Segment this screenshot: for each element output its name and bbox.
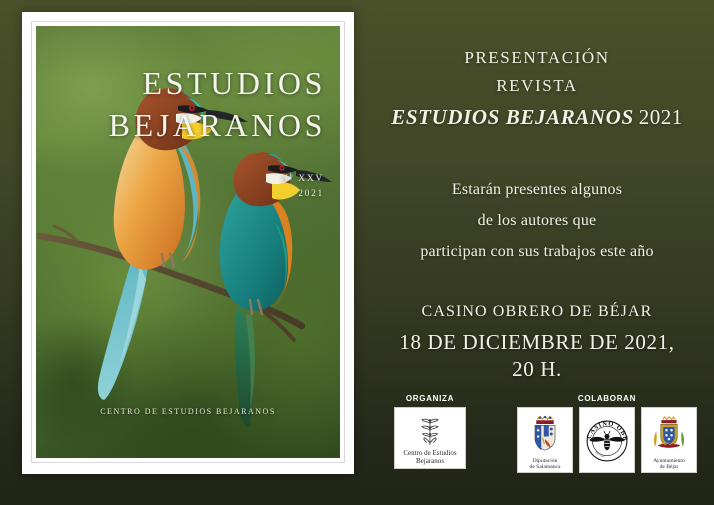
logo-caption-line2: de Béjar [653, 464, 685, 470]
thistle-plant-glyph [413, 414, 447, 448]
magazine-cover: ESTUDIOS BEJARANOS Nº XXV 2021 CENTRO DE… [22, 12, 354, 474]
salamanca-shield-glyph [530, 415, 560, 453]
revista-heading: REVISTA [360, 76, 714, 96]
logo-caption-line1: Diputación [530, 458, 561, 464]
venue-name: CASINO OBRERO DE BÉJAR [360, 303, 714, 321]
cover-photo: ESTUDIOS BEJARANOS Nº XXV 2021 CENTRO DE… [36, 26, 340, 458]
cover-publisher-label: CENTRO DE ESTUDIOS BEJARANOS [100, 407, 276, 416]
colaboran-label: COLABORAN [500, 394, 714, 403]
cover-title-line2: BEJARANOS [36, 104, 326, 146]
event-info-panel: PRESENTACIÓN REVISTA ESTUDIOS BEJARANOS2… [360, 0, 714, 505]
description-line-1: Estarán presentes algunos [360, 174, 714, 205]
description-line-2: de los autores que [360, 205, 714, 236]
cover-publisher: CENTRO DE ESTUDIOS BEJARANOS [36, 401, 340, 419]
logo-caption-line2: Bejaranos [403, 458, 456, 466]
event-description: Estarán presentes algunos de los autores… [360, 174, 714, 268]
organiza-logo-row: Centro de Estudios Bejaranos [378, 407, 482, 469]
casino-obrero-bee-icon: CASINO OBRERO BEJAR [582, 411, 632, 470]
logo-caption-line2: de Salamanca [530, 464, 561, 470]
logo-caption: Ayuntamiento de Béjar [653, 458, 685, 471]
presentation-heading: PRESENTACIÓN [360, 48, 714, 68]
casino-obrero-seal-glyph: CASINO OBRERO BEJAR [584, 418, 630, 464]
logo-caption: Diputación de Salamanca [530, 458, 561, 471]
bejar-coat-of-arms-glyph [651, 415, 687, 453]
journal-title: ESTUDIOS BEJARANOS [391, 105, 633, 129]
organiza-group: ORGANIZA [378, 394, 482, 469]
bejar-coat-of-arms-icon [644, 411, 694, 458]
logo-casino-obrero: CASINO OBRERO BEJAR [579, 407, 635, 473]
sponsors-area: ORGANIZA [360, 394, 714, 489]
logo-diputacion-de-salamanca: Diputación de Salamanca [517, 407, 573, 473]
cover-issue-info: Nº XXV 2021 [281, 172, 324, 201]
organiza-label: ORGANIZA [378, 394, 482, 403]
logo-caption-line1: Ayuntamiento [653, 458, 685, 464]
thistle-plant-icon [397, 411, 463, 450]
journal-title-line: ESTUDIOS BEJARANOS2021 [360, 105, 714, 130]
logo-ayuntamiento-de-bejar: Ayuntamiento de Béjar [641, 407, 697, 473]
colaboran-group: COLABORAN [500, 394, 714, 473]
description-line-3: participan con sus trabajos este año [360, 236, 714, 267]
logo-centro-de-estudios-bejaranos: Centro de Estudios Bejaranos [394, 407, 466, 469]
cover-issue-number: Nº XXV [281, 172, 324, 187]
cover-title: ESTUDIOS BEJARANOS [36, 62, 326, 146]
cover-issue-year: 2021 [281, 187, 324, 202]
salamanca-shield-icon [520, 411, 570, 458]
event-time: 20 H. [360, 357, 714, 382]
event-date: 18 DE DICIEMBRE DE 2021, [360, 330, 714, 355]
colaboran-logo-row: Diputación de Salamanca [500, 407, 714, 473]
cover-title-line1: ESTUDIOS [36, 62, 326, 104]
journal-year: 2021 [639, 105, 683, 129]
logo-caption: Centro de Estudios Bejaranos [403, 450, 456, 466]
